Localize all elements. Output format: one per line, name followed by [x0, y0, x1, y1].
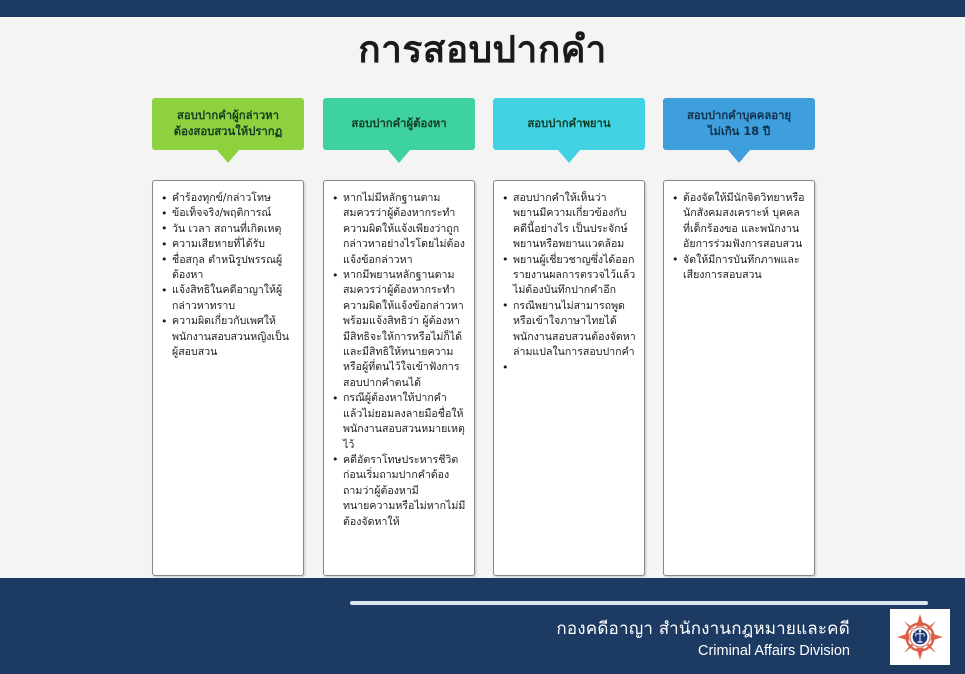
seal-icon — [894, 612, 946, 662]
criminal-affairs-division-seal — [890, 609, 950, 665]
column-4-header: สอบปากคำบุคคลอายุไม่เกิน 18 ปี — [663, 98, 815, 150]
column-3-header-label: สอบปากคำพยาน — [527, 116, 610, 132]
columns-container: สอบปากคำผู้กล่าวหาต้องสอบสวนให้ปรากฏ คำร… — [152, 98, 830, 576]
slide: การสอบปากคำ สอบปากคำผู้กล่าวหาต้องสอบสวน… — [0, 0, 965, 674]
column-3-header: สอบปากคำพยาน — [493, 98, 645, 150]
list-item: กรณีผู้ต้องหาให้ปากคำแล้วไม่ยอมลงลายมือช… — [328, 391, 466, 453]
list-item: พยานผู้เชี่ยวชาญซึ่งได้ออกรายงานผลการตรว… — [498, 253, 636, 299]
column-3-body: สอบปากคำให้เห็นว่า พยานมีความเกี่ยวข้องก… — [493, 180, 645, 576]
column-1-list: คำร้องทุกข์/กล่าวโทษ ข้อเท็จจริง/พฤติการ… — [157, 191, 295, 360]
column-4-body: ต้องจัดให้มีนักจิตวิทยาหรือนักสังคมสงเคร… — [663, 180, 815, 576]
list-item: จัดให้มีการบันทึกภาพและเสียงการสอบสวน — [668, 253, 806, 284]
column-1-body: คำร้องทุกข์/กล่าวโทษ ข้อเท็จจริง/พฤติการ… — [152, 180, 304, 576]
list-item: หากไม่มีหลักฐานตามสมควรว่าผู้ต้องหากระทำ… — [328, 191, 466, 268]
column-1-header-label: สอบปากคำผู้กล่าวหาต้องสอบสวนให้ปรากฏ — [174, 108, 282, 140]
list-item: สอบปากคำให้เห็นว่า พยานมีความเกี่ยวข้องก… — [498, 191, 636, 253]
column-2: สอบปากคำผู้ต้องหา หากไม่มีหลักฐานตามสมคว… — [323, 98, 475, 576]
footer-english: Criminal Affairs Division — [330, 641, 850, 661]
list-item: แจ้งสิทธิในคดีอาญาให้ผู้กล่าวหาทราบ — [157, 283, 295, 314]
column-4-header-label: สอบปากคำบุคคลอายุไม่เกิน 18 ปี — [687, 108, 791, 140]
list-item: หากมีพยานหลักฐานตามสมควรว่าผู้ต้องหากระท… — [328, 268, 466, 391]
footer-thai: กองคดีอาญา สำนักงานกฎหมายและคดี — [330, 617, 850, 641]
footer-divider — [350, 601, 928, 605]
column-3-list: สอบปากคำให้เห็นว่า พยานมีความเกี่ยวข้องก… — [498, 191, 636, 373]
column-1: สอบปากคำผู้กล่าวหาต้องสอบสวนให้ปรากฏ คำร… — [152, 98, 304, 576]
list-item: ข้อเท็จจริง/พฤติการณ์ — [157, 206, 295, 221]
page-title: การสอบปากคำ — [0, 27, 965, 73]
list-item: กรณีพยานไม่สามารถพูดหรือเข้าใจภาษาไทยได้… — [498, 299, 636, 361]
list-item: คำร้องทุกข์/กล่าวโทษ — [157, 191, 295, 206]
list-item: ชื่อสกุล ตำหนิรูปพรรณผู้ต้องหา — [157, 253, 295, 284]
column-2-body: หากไม่มีหลักฐานตามสมควรว่าผู้ต้องหากระทำ… — [323, 180, 475, 576]
list-item: ความเสียหายที่ได้รับ — [157, 237, 295, 252]
list-item: คดีอัตราโทษประหารชีวิตก่อนเริ่มถามปากคำต… — [328, 453, 466, 530]
column-4: สอบปากคำบุคคลอายุไม่เกิน 18 ปี ต้องจัดให… — [663, 98, 815, 576]
column-1-header: สอบปากคำผู้กล่าวหาต้องสอบสวนให้ปรากฏ — [152, 98, 304, 150]
footer: กองคดีอาญา สำนักงานกฎหมายและคดี Criminal… — [330, 617, 850, 661]
list-item — [498, 360, 636, 373]
list-item: ต้องจัดให้มีนักจิตวิทยาหรือนักสังคมสงเคร… — [668, 191, 806, 253]
column-2-header-label: สอบปากคำผู้ต้องหา — [351, 116, 446, 132]
column-4-list: ต้องจัดให้มีนักจิตวิทยาหรือนักสังคมสงเคร… — [668, 191, 806, 283]
top-band — [0, 0, 965, 17]
list-item: ความผิดเกี่ยวกับเพศให้พนักงานสอบสวนหญิงเ… — [157, 314, 295, 360]
column-2-header: สอบปากคำผู้ต้องหา — [323, 98, 475, 150]
list-item: วัน เวลา สถานที่เกิดเหตุ — [157, 222, 295, 237]
column-2-list: หากไม่มีหลักฐานตามสมควรว่าผู้ต้องหากระทำ… — [328, 191, 466, 530]
column-3: สอบปากคำพยาน สอบปากคำให้เห็นว่า พยานมีคว… — [493, 98, 645, 576]
